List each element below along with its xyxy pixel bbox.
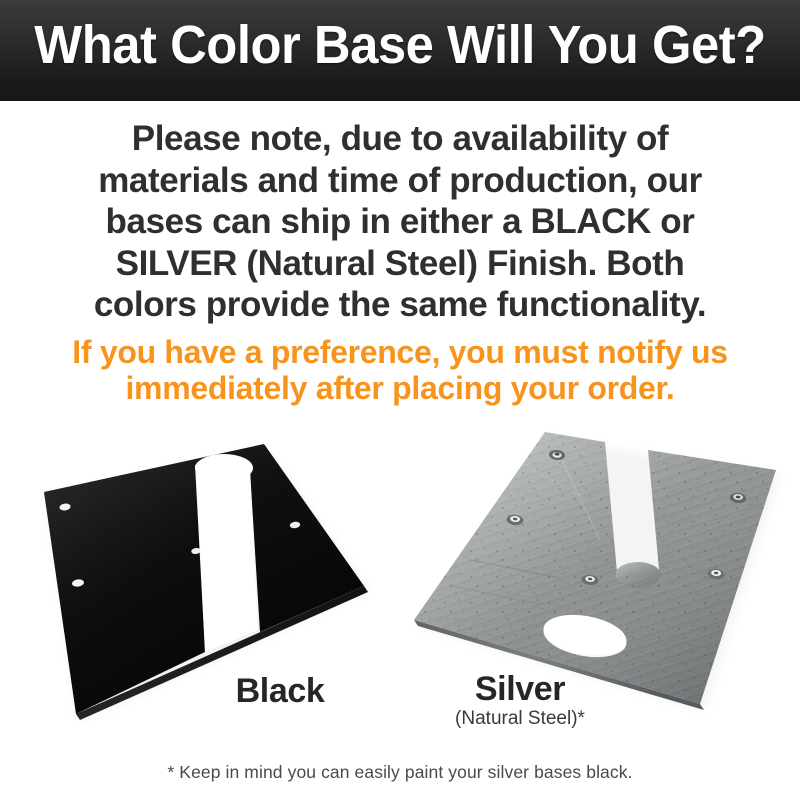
black-plate-label: Black — [180, 672, 380, 710]
color-base-infographic: What Color Base Will You Get? Please not… — [0, 0, 800, 800]
silver-plate-texture — [414, 432, 776, 704]
footnote: * Keep in mind you can easily paint your… — [0, 761, 800, 783]
black-plate-handle-slot — [315, 431, 406, 486]
silver-base-plate-photo — [414, 432, 780, 710]
base-plates-illustration — [0, 0, 800, 800]
silver-plate-sublabel: (Natural Steel)* — [420, 708, 620, 730]
silver-plate-label: Silver — [420, 670, 620, 708]
product-photos — [0, 0, 800, 800]
